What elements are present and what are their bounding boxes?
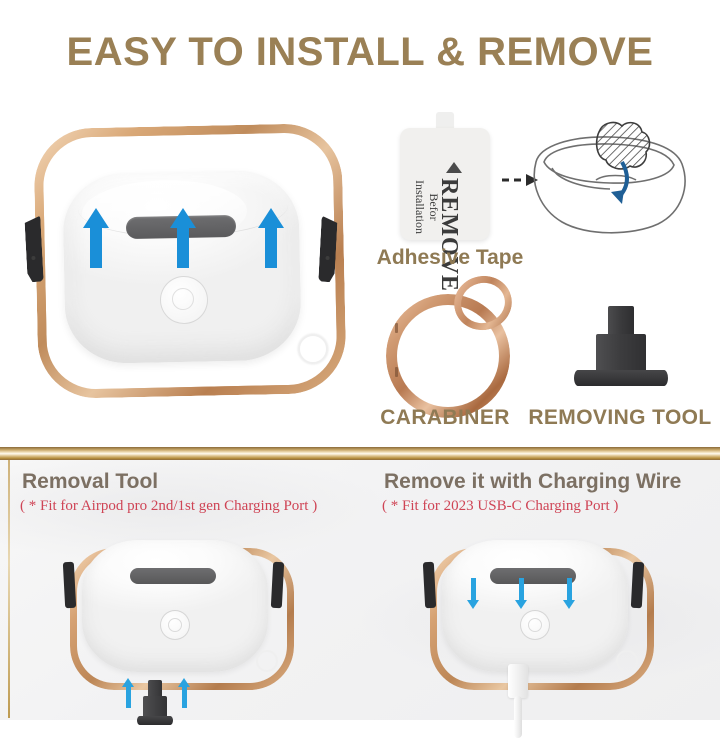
- keyring-loop: [298, 334, 328, 364]
- mini-case-body-left: [82, 540, 268, 672]
- left-gold-rule: [8, 460, 10, 718]
- remove-arrow-right-3: [563, 578, 575, 609]
- adhesive-tape-tab: REMOVE Befor Installation: [390, 112, 500, 242]
- carabiner-image: [378, 276, 528, 398]
- mini-pairing-button-left: [160, 610, 190, 640]
- hero-product-image: [8, 112, 353, 397]
- mini-case-left: [48, 528, 298, 688]
- usb-c-plug: [508, 664, 528, 698]
- mini-clip-left-side: [63, 562, 76, 609]
- install-diagram-svg: [500, 112, 720, 237]
- cable-cord: [514, 696, 522, 738]
- tool-base: [574, 370, 668, 386]
- mini-hinge-left: [130, 568, 216, 584]
- tool-middle: [596, 334, 646, 372]
- panel-title-left: Removal Tool: [22, 470, 158, 494]
- tape-sub-line1: Befor: [427, 193, 441, 220]
- install-arrow-1: [83, 208, 109, 272]
- tape-sub-line2: Installation: [413, 180, 427, 234]
- removal-arrow-left-2: [178, 678, 190, 708]
- remove-arrow-right-2: [515, 578, 527, 609]
- top-section: EASY TO INSTALL & REMOVE: [0, 0, 720, 448]
- mini-clip-left-side-r: [423, 562, 436, 609]
- removing-tool-label: REMOVING TOOL: [520, 406, 720, 430]
- mini-keyring-right: [616, 650, 638, 672]
- tape-sub-text: Befor Installation: [412, 180, 440, 234]
- adhesive-tape-label: Adhesive Tape: [340, 246, 560, 270]
- mini-case-right: [408, 528, 658, 688]
- charging-wire: [504, 664, 532, 740]
- panel-subtitle-left: ( * Fit for Airpod pro 2nd/1st gen Charg…: [20, 498, 317, 515]
- panel-subtitle-right: ( * Fit for 2023 USB-C Charging Port ): [382, 498, 618, 515]
- install-arrow-2: [170, 208, 196, 272]
- install-arrow-3: [258, 208, 284, 272]
- gold-divider-band: [0, 447, 720, 460]
- removal-tool-small: [137, 680, 173, 726]
- tape-body: REMOVE Befor Installation: [400, 128, 490, 240]
- mini-pairing-button-right: [520, 610, 550, 640]
- dashed-arrow-icon: [502, 174, 538, 186]
- removal-arrow-left-1: [122, 678, 134, 708]
- infographic-page: EASY TO INSTALL & REMOVE: [0, 0, 720, 720]
- removing-tool-image: [560, 300, 680, 398]
- remove-arrow-right-1: [467, 578, 479, 609]
- install-diagram: [500, 112, 720, 237]
- mini-keyring-left: [256, 650, 278, 672]
- page-title: EASY TO INSTALL & REMOVE: [0, 30, 720, 75]
- panel-title-right: Remove it with Charging Wire: [384, 470, 681, 494]
- triangle-icon: [446, 162, 462, 173]
